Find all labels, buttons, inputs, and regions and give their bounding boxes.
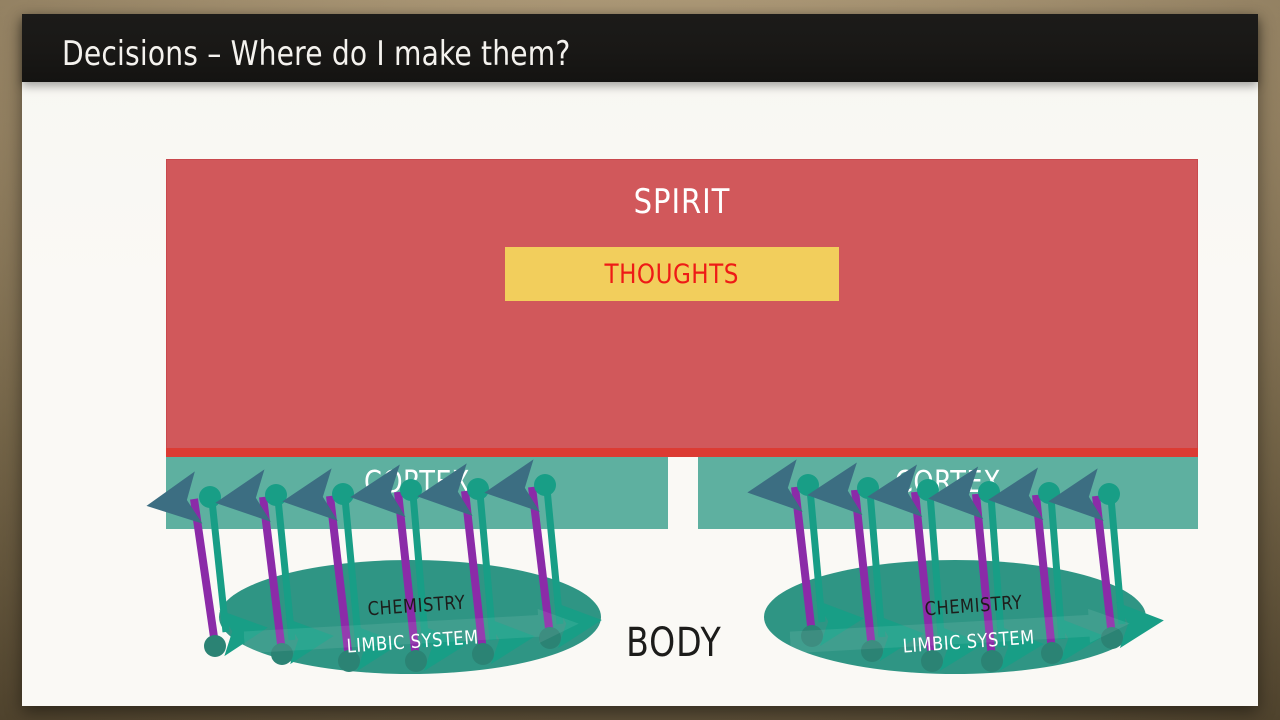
thoughts-label: THOUGHTS — [605, 259, 739, 290]
cortex-left: CORTEX — [166, 457, 668, 529]
thoughts-box: THOUGHTS — [505, 247, 839, 301]
cortex-right-label: CORTEX — [711, 465, 1186, 500]
cortex-right: CORTEX — [698, 457, 1198, 529]
cortex-left-label: CORTEX — [179, 465, 656, 500]
slide-title-bar: Decisions – Where do I make them? — [22, 14, 1258, 82]
spirit-accent-bar — [166, 448, 1198, 457]
body-label: BODY — [626, 620, 722, 666]
page-title: Decisions – Where do I make them? — [62, 34, 571, 74]
slide-stage: SPIRIT THOUGHTS CORTEX CORTEX — [0, 0, 1280, 720]
spirit-label: SPIRIT — [192, 182, 1172, 222]
slide-canvas: SPIRIT THOUGHTS CORTEX CORTEX — [22, 14, 1258, 706]
